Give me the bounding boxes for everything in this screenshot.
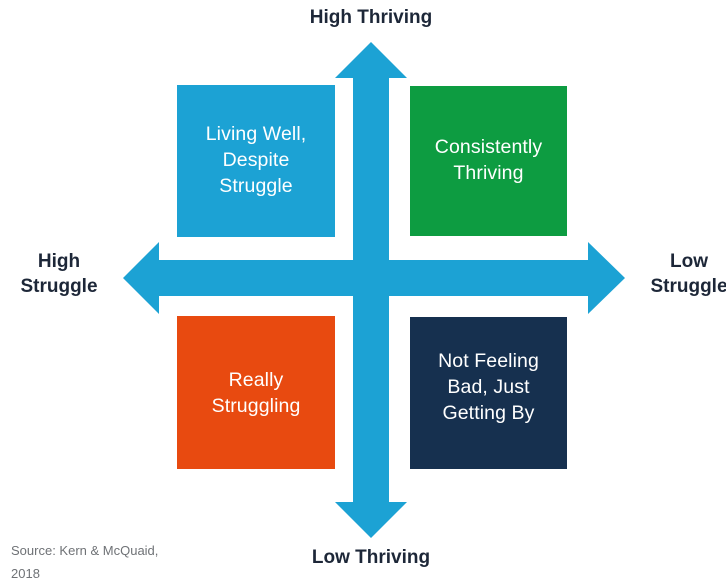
axis-arrow-vertical xyxy=(335,42,407,538)
axis-label-low-thriving: Low Thriving xyxy=(246,546,496,571)
quadrant-consistently-thriving: Consistently Thriving xyxy=(410,86,567,236)
quadrant-label: Consistently Thriving xyxy=(435,135,542,187)
axis-label-high-thriving: High Thriving xyxy=(246,6,496,31)
quadrant-not-feeling-bad-just-getting-by: Not Feeling Bad, Just Getting By xyxy=(410,317,567,469)
source-citation: Source: Kern & McQuaid, 2018 xyxy=(11,540,211,586)
quadrant-label: Really Struggling xyxy=(212,368,301,420)
quadrant-really-struggling: Really Struggling xyxy=(177,316,335,469)
axis-label-high-struggle: High Struggle xyxy=(2,250,116,299)
axis-label-low-struggle: Low Struggle xyxy=(632,250,726,299)
axis-arrow-horizontal xyxy=(123,242,625,314)
quadrant-label: Living Well, Despite Struggle xyxy=(206,122,307,200)
quadrant-label: Not Feeling Bad, Just Getting By xyxy=(438,349,539,427)
diagram-canvas: Living Well, Despite Struggle Consistent… xyxy=(0,0,726,585)
quadrant-living-well-despite-struggle: Living Well, Despite Struggle xyxy=(177,85,335,237)
